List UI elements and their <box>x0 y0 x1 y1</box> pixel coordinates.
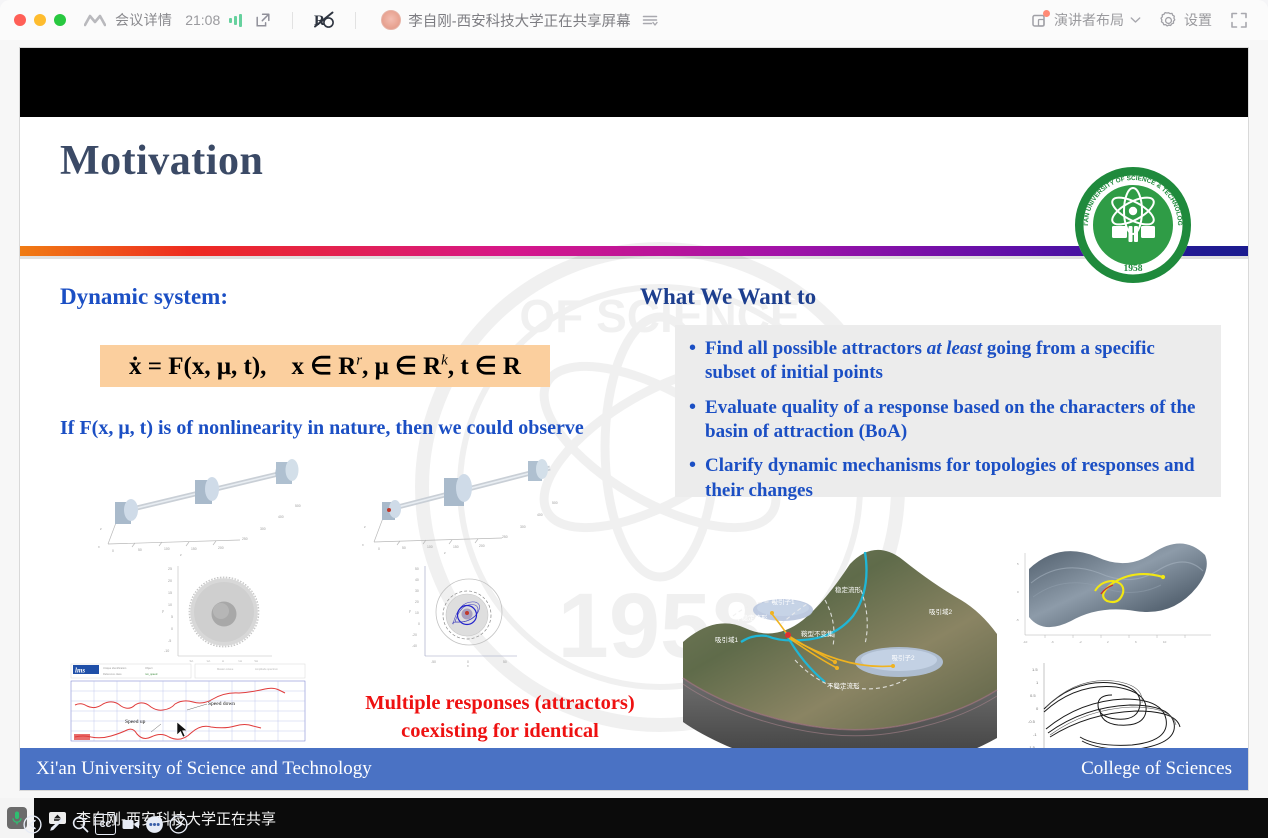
powerpoint-slide: 1958 OF SCIENCE Motivation <box>20 117 1248 790</box>
speaker-layout-label: 演讲者布局 <box>1054 10 1124 30</box>
svg-text:0.5: 0.5 <box>1030 693 1036 698</box>
orbit-disk-plot-1: 252015 1050 -5-10 -20-100 1020 yx <box>160 560 278 668</box>
svg-text:300: 300 <box>520 525 526 529</box>
divider <box>355 12 356 29</box>
next-slide-icon[interactable] <box>169 815 188 834</box>
terrain-label-stable: 稳定流形 <box>835 585 862 594</box>
svg-text:10: 10 <box>168 603 172 607</box>
manifold-surface-3d: -10-6-2 2610 50-5 <box>1015 535 1220 653</box>
letterbox-band <box>20 48 1248 117</box>
svg-text:-10: -10 <box>164 649 169 653</box>
meeting-details-label[interactable]: 会议详情 <box>115 10 172 30</box>
sharing-toolbar: 李自刚-西安科技大学正在共享 <box>0 798 1268 838</box>
svg-text:15: 15 <box>168 591 172 595</box>
avatar <box>381 10 401 30</box>
svg-text:5: 5 <box>171 615 173 619</box>
svg-text:-1: -1 <box>1033 732 1037 737</box>
accent-rule <box>20 246 1248 256</box>
svg-text:500: 500 <box>552 501 558 505</box>
objective-text: Evaluate quality of a response based on … <box>705 396 1205 445</box>
svg-text:0: 0 <box>171 627 173 631</box>
svg-text:Reference class: Reference class <box>103 672 122 676</box>
speaker-layout-button[interactable]: 演讲者布局 <box>1025 6 1147 34</box>
svg-text:30: 30 <box>415 589 419 593</box>
meeting-timer: 21:08 <box>185 12 220 28</box>
svg-text:-10: -10 <box>1023 640 1028 644</box>
presentation-frame[interactable]: 1958 OF SCIENCE Motivation <box>20 48 1248 790</box>
svg-text:50: 50 <box>402 546 406 550</box>
svg-text:y: y <box>409 609 411 613</box>
equation-lhs: ẋ = F(x, μ, t), <box>129 353 266 380</box>
orbit-disk-plot-2: 504030 20100 -20-40 -50050 yx <box>405 560 523 668</box>
svg-text:z: z <box>100 527 102 531</box>
svg-text:0: 0 <box>112 549 114 553</box>
svg-text:20: 20 <box>415 600 419 604</box>
meeting-info-group[interactable]: 会议详情 21:08 R <box>84 10 367 30</box>
window-traffic-lights[interactable] <box>0 14 66 26</box>
svg-text:-50: -50 <box>431 660 436 664</box>
svg-text:-20: -20 <box>412 633 417 637</box>
svg-text:150: 150 <box>453 545 459 549</box>
footer-college-name: College of Sciences <box>1081 758 1232 780</box>
nonlinearity-statement-a: If F(x, μ, t) <box>60 417 153 439</box>
bullet-dot-icon: • <box>689 454 696 503</box>
list-icon[interactable] <box>642 13 658 27</box>
terrain-label-basin-2: 吸引域2 <box>929 607 953 616</box>
recording-off-icon[interactable]: R <box>313 10 335 30</box>
zoom-icon[interactable] <box>71 815 90 834</box>
svg-text:200: 200 <box>218 546 224 550</box>
svg-text:100: 100 <box>164 547 170 551</box>
what-we-want-heading: What We Want to <box>640 284 816 310</box>
svg-text:6: 6 <box>1135 640 1137 644</box>
previous-slide-icon[interactable] <box>23 815 42 834</box>
svg-text:20: 20 <box>168 579 172 583</box>
svg-text:0: 0 <box>1036 706 1039 711</box>
rotor-shaft-3d-plot-1: 050100 150200250 300400500 zxz <box>90 452 320 562</box>
svg-text:10: 10 <box>1163 640 1167 644</box>
equation-rhs-2-sup: k <box>441 353 448 369</box>
svg-text:400: 400 <box>537 513 543 517</box>
slide-footer: Xi'an University of Science and Technolo… <box>20 748 1248 790</box>
minimize-window-button[interactable] <box>34 14 46 26</box>
equation-rhs-2: , μ ∈ R <box>362 353 441 380</box>
lms-label-speed-up: Speed up <box>125 719 146 725</box>
svg-text:-2: -2 <box>1079 640 1082 644</box>
dynamic-system-heading: Dynamic system: <box>60 284 228 310</box>
svg-text:0: 0 <box>418 622 420 626</box>
maximize-window-button[interactable] <box>54 14 66 26</box>
gear-icon <box>1159 11 1178 30</box>
svg-text:Unique identification: Unique identification <box>103 666 127 670</box>
equation-box: ẋ = F(x, μ, t), x ∈ Rr, μ ∈ Rk, t ∈ R <box>100 345 550 387</box>
present-icon[interactable] <box>121 815 140 834</box>
svg-text:300: 300 <box>260 527 266 531</box>
terrain-label-unstable-2: 不稳定流形 <box>827 681 860 690</box>
university-logo: XI'AN UNIVERSITY OF SCIENCE & TECHNOLOGY… <box>1068 163 1198 288</box>
svg-text:400: 400 <box>278 515 284 519</box>
basin-of-attraction-terrain: 吸引子1 吸引子2 吸引域1 吸引域2 不稳定流形 稳定流形 鞍型不变集 不稳定… <box>675 542 1005 770</box>
svg-text:500: 500 <box>295 504 301 508</box>
svg-text:z: z <box>444 551 446 555</box>
svg-text:50: 50 <box>503 660 507 664</box>
more-options-icon[interactable] <box>145 815 164 834</box>
layout-icon <box>1031 12 1048 29</box>
lms-label-speed-down: Speed down <box>208 701 235 707</box>
svg-text:0: 0 <box>1017 590 1019 594</box>
sharing-status-label: 李自刚-西安科技大学正在共享屏幕 <box>408 10 630 31</box>
bullet-dot-icon: • <box>689 337 696 386</box>
red-annotation-line2: coexisting for identical <box>330 718 670 746</box>
closed-caption-icon[interactable]: CC <box>95 814 116 835</box>
svg-text:0: 0 <box>378 547 380 551</box>
svg-text:-40: -40 <box>412 644 417 648</box>
equation-text: ẋ = F(x, μ, t), x ∈ Rr, μ ∈ Rk, t ∈ R <box>129 351 521 381</box>
sharing-status: 李自刚-西安科技大学正在共享屏幕 <box>381 10 657 31</box>
svg-text:run_speed: run_speed <box>145 672 158 676</box>
svg-text:100: 100 <box>427 545 433 549</box>
terrain-label-unstable-1: 不稳定流形 <box>735 613 768 622</box>
list-item: • Find all possible attractors at least … <box>689 337 1205 386</box>
svg-text:y: y <box>162 609 164 613</box>
svg-text:250: 250 <box>242 537 248 541</box>
app-logo-icon <box>84 13 106 27</box>
terrain-label-saddle: 鞍型不变集 <box>801 629 834 638</box>
notification-dot <box>1043 10 1050 17</box>
svg-text:200: 200 <box>479 544 485 548</box>
page-title: Motivation <box>60 137 263 185</box>
svg-text:2: 2 <box>1107 640 1109 644</box>
svg-text:250: 250 <box>502 535 508 539</box>
terrain-label-basin-1: 吸引域1 <box>715 635 739 644</box>
svg-text:-5: -5 <box>1016 618 1019 622</box>
svg-text:lms: lms <box>75 667 85 675</box>
settings-button[interactable]: 设置 <box>1153 6 1218 34</box>
shared-screen-area: 1958 OF SCIENCE Motivation <box>0 40 1268 800</box>
pen-icon[interactable] <box>47 815 66 834</box>
chevron-down-icon <box>1130 16 1141 24</box>
objectives-list: • Find all possible attractors at least … <box>675 325 1221 497</box>
fullscreen-button[interactable] <box>1224 7 1254 33</box>
svg-text:Object: Object <box>145 666 153 670</box>
accent-rule-shadow <box>20 256 1248 259</box>
list-item: • Evaluate quality of a response based o… <box>689 396 1205 445</box>
svg-text:Amplitude spectrum: Amplitude spectrum <box>255 667 278 671</box>
objective-text: Clarify dynamic mechanisms for topologie… <box>705 454 1205 503</box>
settings-label: 设置 <box>1184 10 1212 30</box>
svg-text:Master octave: Master octave <box>217 667 234 671</box>
svg-text:x: x <box>467 664 469 668</box>
svg-text:x: x <box>98 545 100 549</box>
popout-icon[interactable] <box>255 12 272 29</box>
terrain-label-attractor-2: 吸引子2 <box>891 653 915 662</box>
nonlinearity-statement-b: is of nonlinearity in nature, then we co… <box>153 417 584 439</box>
fullscreen-icon <box>1230 11 1248 29</box>
svg-text:10: 10 <box>415 611 419 615</box>
footer-university-name: Xi'an University of Science and Technolo… <box>36 758 372 780</box>
objective-text: Find all possible attractors at least go… <box>705 337 1205 386</box>
meeting-titlebar: 会议详情 21:08 R 李自刚-西安科 <box>0 0 1268 41</box>
bullet-dot-icon: • <box>689 396 696 445</box>
svg-text:50: 50 <box>138 548 142 552</box>
meeting-window: 会议详情 21:08 R 李自刚-西安科 <box>0 0 1268 838</box>
svg-text:z: z <box>180 553 182 557</box>
list-item: • Clarify dynamic mechanisms for topolog… <box>689 454 1205 503</box>
svg-text:25: 25 <box>168 567 172 571</box>
equation-rhs-1: x ∈ R <box>291 353 356 380</box>
svg-text:-6: -6 <box>1051 640 1054 644</box>
equation-rhs-3: , t ∈ R <box>448 353 521 380</box>
svg-text:x: x <box>362 543 364 547</box>
close-window-button[interactable] <box>14 14 26 26</box>
lms-speed-chart: lms Unique identificationObject Referenc… <box>65 662 310 744</box>
svg-text:1.5: 1.5 <box>1032 667 1038 672</box>
svg-text:z: z <box>364 525 366 529</box>
divider <box>292 12 293 29</box>
red-annotation-line1: Multiple responses (attractors) <box>330 690 670 718</box>
svg-text:40: 40 <box>415 578 419 582</box>
svg-text:-0.5: -0.5 <box>1028 719 1036 724</box>
powerpoint-slideshow-controls[interactable]: CC <box>23 814 188 835</box>
svg-text:1958: 1958 <box>1124 264 1143 274</box>
signal-bars-icon[interactable] <box>229 13 242 27</box>
svg-text:50: 50 <box>415 567 419 571</box>
svg-text:150: 150 <box>191 547 197 551</box>
svg-text:1: 1 <box>1036 680 1039 685</box>
rotor-shaft-3d-plot-2: 050100 150200250 300400500 zxz <box>352 452 567 562</box>
terrain-label-attractor-1: 吸引子1 <box>771 597 795 606</box>
svg-text:5: 5 <box>1017 562 1019 566</box>
nonlinearity-statement: If F(x, μ, t) is of nonlinearity in natu… <box>60 417 584 440</box>
titlebar-right-actions[interactable]: 演讲者布局 设置 <box>1025 6 1268 34</box>
svg-text:-5: -5 <box>168 639 171 643</box>
